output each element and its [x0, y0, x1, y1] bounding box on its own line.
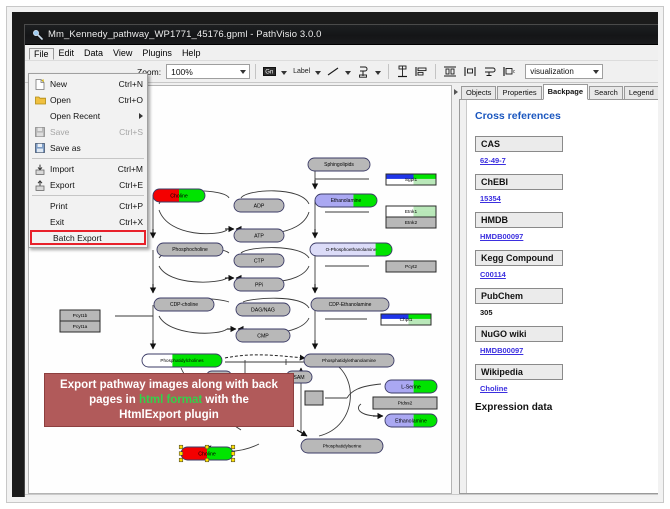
align-icon[interactable]	[394, 63, 411, 80]
pathway-node-label: ATP	[254, 233, 264, 239]
tab-search[interactable]: Search	[589, 86, 623, 99]
pathway-node-metabolite[interactable]: PPi	[234, 278, 284, 291]
open-folder-icon	[33, 95, 47, 105]
export-icon	[33, 180, 47, 191]
menu-item-accelerator: Ctrl+O	[112, 95, 143, 105]
visualization-combobox[interactable]: visualization	[525, 64, 603, 79]
xref-value-link[interactable]: C00114	[475, 266, 657, 279]
pathway-node-metabolite[interactable]: CTP	[234, 254, 284, 267]
pathway-node-label: Choline	[170, 193, 188, 199]
xref-kegg-compound: Kegg Compound C00114	[475, 250, 657, 279]
menu-item-accelerator: Ctrl+E	[113, 180, 143, 190]
import-icon	[33, 164, 47, 175]
pathway-node-label: Phosphocholine	[172, 247, 208, 253]
pathway-node-label: CDP-choline	[170, 302, 198, 308]
menu-item-open[interactable]: OpenCtrl+O	[29, 92, 147, 108]
xref-database-label: NuGO wiki	[475, 326, 563, 342]
menu-item-save: SaveCtrl+S	[29, 124, 147, 140]
menu-plugins[interactable]: Plugins	[137, 47, 177, 59]
backpage-content: Cross references CAS 62-49-7 ChEBI 15354…	[467, 100, 658, 493]
save-as-disk-icon	[33, 143, 47, 153]
line-dropdown-icon[interactable]	[345, 71, 351, 75]
menu-item-export[interactable]: ExportCtrl+E	[29, 177, 147, 193]
pathway-node-label: O-Phosphoethanolamine	[326, 247, 377, 252]
pathway-node-metabolite[interactable]: DAG/NAG	[236, 303, 290, 316]
menu-item-open-recent[interactable]: Open Recent	[29, 108, 147, 124]
pathway-node-metabolite[interactable]: Sphingolipids	[308, 158, 370, 171]
pathway-node-gene[interactable]: Etnk2	[386, 217, 436, 228]
menu-item-exit[interactable]: ExitCtrl+X	[29, 214, 147, 230]
toolbar-divider	[255, 64, 256, 79]
window-title: Mm_Kennedy_pathway_WP1771_45176.gpml - P…	[48, 29, 322, 40]
annotation-callout: Export pathway images along with back pa…	[44, 373, 294, 427]
save-disk-icon	[33, 127, 47, 137]
pathway-node-gene[interactable]: Pcyt1b	[60, 310, 100, 321]
datanode-button[interactable]: Gn	[261, 63, 278, 80]
menu-item-accelerator: Ctrl+X	[113, 217, 143, 227]
label-dropdown-icon[interactable]	[315, 71, 321, 75]
callout-line-2a: pages in	[89, 394, 139, 406]
pathway-node-label: PPi	[255, 282, 263, 288]
receptor-shape-icon[interactable]	[355, 63, 372, 80]
pathway-node-label: Pcyt1a	[73, 324, 88, 330]
pathway-node-gene[interactable]: Chpt1	[381, 314, 431, 325]
distribute-icon[interactable]	[461, 63, 479, 80]
menu-item-label: Import	[47, 164, 112, 174]
menu-item-label: Print	[47, 201, 113, 211]
menu-item-save-as[interactable]: Save as	[29, 140, 147, 156]
menu-item-label: Save as	[47, 143, 143, 153]
pathway-node-label: CMP	[257, 333, 269, 339]
chevron-right-icon[interactable]	[454, 89, 458, 95]
pathway-node-metabolite[interactable]: Choline	[153, 189, 205, 202]
menu-edit[interactable]: Edit	[54, 47, 80, 59]
receptor-dropdown-icon[interactable]	[375, 71, 381, 75]
pathway-node-metabolite[interactable]: Phosphocholine	[157, 243, 223, 256]
xref-database-label: Kegg Compound	[475, 250, 563, 266]
menu-data[interactable]: Data	[79, 47, 108, 59]
menu-file[interactable]: File	[29, 48, 54, 60]
xref-database-label: CAS	[475, 136, 563, 152]
xref-value-link[interactable]: 62-49-7	[475, 152, 657, 165]
file-menu-dropdown[interactable]: NewCtrl+NOpenCtrl+OOpen RecentSaveCtrl+S…	[28, 73, 148, 248]
pathway-node-metabolite[interactable]: Phosphatidylserine	[301, 439, 383, 453]
pathway-node-label: Chpt1	[400, 317, 413, 323]
menu-separator	[32, 158, 144, 159]
zoom-value: 100%	[171, 67, 193, 77]
pathway-node-label: Etnk1	[405, 209, 418, 215]
pathway-node-label: Ptdss2	[398, 401, 413, 407]
stack-vertical-icon[interactable]	[441, 63, 459, 80]
pathway-node-label: SAM	[293, 375, 304, 381]
datanode-dropdown-icon[interactable]	[281, 71, 287, 75]
pathway-node-gene[interactable]: Pcyt2	[386, 261, 436, 272]
title-bar: Mm_Kennedy_pathway_WP1771_45176.gpml - P…	[25, 25, 658, 45]
pathway-node-label: Choline	[198, 451, 216, 457]
menu-item-accelerator: Ctrl+P	[113, 201, 143, 211]
menu-bar: File Edit Data View Plugins Help	[25, 45, 658, 61]
pathway-node-gene[interactable]: Pcyt1a	[60, 321, 100, 332]
menu-item-accelerator: Ctrl+M	[112, 164, 143, 174]
pathway-node-label: Sgpl1	[405, 177, 418, 183]
menu-item-accelerator: Ctrl+S	[113, 127, 143, 137]
pathway-node-label: Pcyt1b	[73, 313, 88, 319]
pathway-node-metabolite[interactable]: CDP-Ethanolamine	[311, 298, 389, 311]
svg-text:Gn: Gn	[265, 69, 273, 75]
label-button-text: Label	[293, 68, 310, 75]
pathway-node-label: Etnk2	[405, 220, 418, 226]
pathway-node-metabolite[interactable]: ADP	[234, 199, 284, 212]
xref-nugo-wiki: NuGO wiki HMDB00097	[475, 326, 657, 355]
backpage-scrollbar[interactable]	[460, 100, 467, 493]
callout-line-1: Export pathway images along with back	[60, 378, 278, 393]
order-icon[interactable]: o	[500, 63, 517, 80]
side-panel-tabs: Objects Properties Backpage Search Legen…	[459, 85, 658, 100]
pathway-node-label: Ethanolamine	[331, 198, 362, 204]
menu-item-new[interactable]: NewCtrl+N	[29, 76, 147, 92]
window-shadow: Mm_Kennedy_pathway_WP1771_45176.gpml - P…	[12, 12, 658, 497]
tab-backpage[interactable]: Backpage	[543, 84, 588, 100]
pathway-node-gene[interactable]: Etnk1	[386, 206, 436, 217]
cross-references-title: Cross references	[475, 110, 657, 122]
xref-hmdb: HMDB HMDB00097	[475, 212, 657, 241]
xref-value-link[interactable]: HMDB00097	[475, 342, 657, 355]
pathway-node-label: Phosphatidylethanolamine	[322, 358, 376, 363]
label-button[interactable]: Label	[291, 63, 312, 80]
chevron-down-icon	[240, 70, 246, 74]
xref-database-label: ChEBI	[475, 174, 563, 190]
pathway-node-metabolite[interactable]: Ethanolamine	[385, 414, 437, 427]
menu-item-label: Export	[47, 180, 113, 190]
chevron-right-icon	[139, 113, 143, 119]
svg-text:o: o	[513, 69, 515, 75]
pathway-node-gene[interactable]	[305, 391, 323, 405]
expression-data-title: Expression data	[475, 402, 657, 413]
xref-cas: CAS 62-49-7	[475, 136, 657, 165]
panel-splitter[interactable]	[452, 83, 459, 494]
menu-help[interactable]: Help	[177, 47, 206, 59]
menu-item-label: New	[47, 79, 113, 89]
pathway-node-metabolite[interactable]: L-Serine	[385, 380, 437, 393]
xref-pubchem: PubChem 305	[475, 288, 657, 317]
pathway-node-gene[interactable]: Ptdss2	[373, 397, 437, 409]
pathway-node-label: CTP	[254, 258, 265, 264]
xref-value-link[interactable]: 15354	[475, 190, 657, 203]
backpage-panel: Cross references CAS 62-49-7 ChEBI 15354…	[459, 100, 658, 494]
new-document-icon	[33, 79, 47, 90]
callout-line-3: HtmlExport plugin	[119, 408, 219, 423]
pathway-node-label: L-Serine	[401, 384, 421, 390]
pathway-node-metabolite[interactable]: CDP-choline	[154, 298, 214, 311]
screenshot-frame: Mm_Kennedy_pathway_WP1771_45176.gpml - P…	[0, 0, 670, 509]
align-left-icon[interactable]	[413, 63, 430, 80]
pathway-node-metabolite[interactable]: Phosphatidylcholines	[142, 354, 222, 367]
xref-chebi: ChEBI 15354	[475, 174, 657, 203]
xref-value-link[interactable]: Choline	[475, 380, 657, 393]
pathway-node-label: DAG/NAG	[251, 307, 275, 313]
tab-objects[interactable]: Objects	[461, 86, 496, 99]
pathvisio-application-window: Mm_Kennedy_pathway_WP1771_45176.gpml - P…	[24, 24, 658, 497]
pathway-node-label: CDP-Ethanolamine	[329, 302, 372, 308]
menu-item-label: Exit	[47, 217, 113, 227]
toolbar-divider-2	[388, 64, 389, 79]
pathway-node-label: Pcyt2	[405, 264, 417, 270]
tab-legend[interactable]: Legend	[624, 86, 658, 99]
visualization-value: visualization	[530, 67, 574, 76]
callout-line-2: pages in html format with the	[89, 393, 249, 408]
xref-database-label: HMDB	[475, 212, 563, 228]
menu-view[interactable]: View	[108, 47, 137, 59]
menu-item-label: Batch Export	[50, 233, 140, 243]
pathway-node-metabolite[interactable]: CMP	[236, 329, 290, 342]
chevron-down-icon	[593, 70, 599, 74]
xref-value-text: 305	[475, 304, 657, 317]
pathway-node-label: ADP	[254, 203, 265, 209]
pathway-node-metabolite[interactable]: Ethanolamine	[315, 194, 377, 207]
pathway-node-metabolite[interactable]: Phosphatidylethanolamine	[304, 354, 394, 367]
pathvisio-app-icon	[31, 29, 43, 41]
pathway-node-label: Phosphatidylcholines	[160, 358, 204, 363]
pathway-node-gene[interactable]: Sgpl1	[386, 174, 436, 185]
pathway-node-label: Ethanolamine	[395, 418, 427, 424]
xref-value-link[interactable]: HMDB00097	[475, 228, 657, 241]
callout-line-2c: with the	[202, 394, 249, 406]
menu-separator	[32, 195, 144, 196]
line-style-icon[interactable]	[325, 63, 342, 80]
xref-wikipedia: Wikipedia Choline	[475, 364, 657, 393]
menu-item-label: Open Recent	[47, 111, 135, 121]
group-icon[interactable]	[481, 63, 498, 80]
menu-item-batch-export[interactable]: Batch Export	[30, 230, 146, 245]
status-bar: | Gene database: ...m_Derby_20120602.bri…	[25, 494, 658, 497]
toolbar-divider-3	[435, 64, 436, 79]
menu-item-accelerator: Ctrl+N	[113, 79, 143, 89]
xref-database-label: PubChem	[475, 288, 563, 304]
zoom-combobox[interactable]: 100%	[166, 64, 250, 79]
menu-item-print[interactable]: PrintCtrl+P	[29, 198, 147, 214]
side-panel: Objects Properties Backpage Search Legen…	[459, 85, 658, 494]
menu-item-label: Open	[47, 95, 112, 105]
xref-database-label: Wikipedia	[475, 364, 563, 380]
pathway-node-label: Phosphatidylserine	[323, 444, 362, 449]
menu-item-label: Save	[47, 127, 113, 137]
tab-properties[interactable]: Properties	[497, 86, 541, 99]
callout-highlight: html format	[139, 394, 202, 406]
pathway-node-metabolite[interactable]: ATP	[234, 229, 284, 242]
pathway-node-label: Sphingolipids	[324, 162, 354, 168]
menu-item-import[interactable]: ImportCtrl+M	[29, 161, 147, 177]
pathway-node-metabolite[interactable]: O-Phosphoethanolamine	[310, 243, 392, 256]
